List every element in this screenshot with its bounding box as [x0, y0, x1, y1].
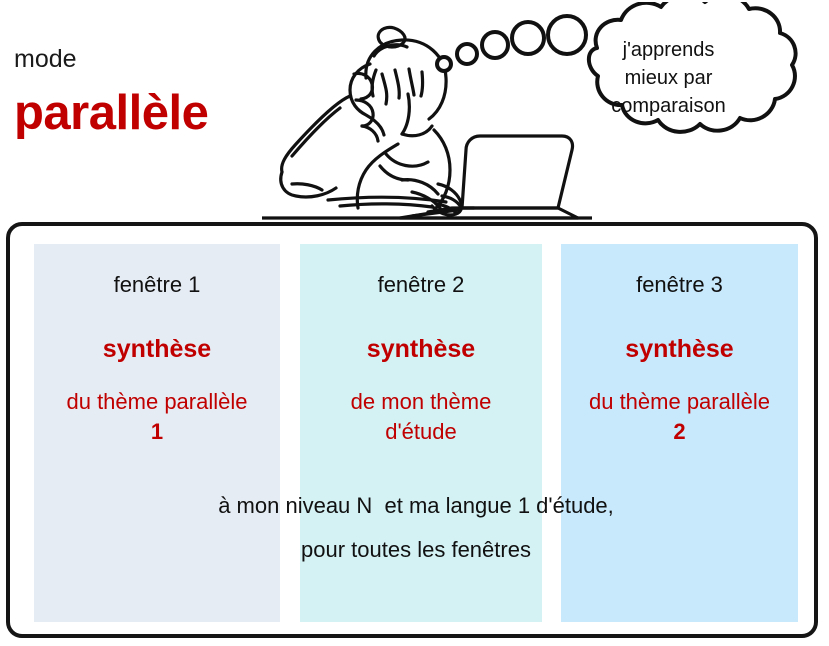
mode-label: mode — [14, 45, 77, 73]
window-description-1: du thème parallèle 1 — [34, 387, 280, 447]
window-description-line1-1: du thème parallèle — [34, 387, 280, 417]
columns-container: fenêtre 1 synthèse du thème parallèle 1 … — [10, 226, 822, 642]
window-label-2: fenêtre 2 — [300, 272, 542, 298]
window-column-3[interactable]: fenêtre 3 synthèse du thème parallèle 2 — [561, 244, 798, 622]
window-description-line1-2: de mon thème — [300, 387, 542, 417]
window-column-2[interactable]: fenêtre 2 synthèse de mon thème d'étude — [300, 244, 542, 622]
window-description-3: du thème parallèle 2 — [561, 387, 798, 447]
synthese-label-1: synthèse — [34, 334, 280, 364]
mode-title: parallèle — [14, 85, 208, 141]
window-description-line2-3: 2 — [561, 417, 798, 447]
bubble-line-2: mieux par — [566, 64, 771, 92]
window-description-line2-2: d'étude — [300, 417, 542, 447]
window-description-2: de mon thème d'étude — [300, 387, 542, 447]
window-description-line1-3: du thème parallèle — [561, 387, 798, 417]
window-label-1: fenêtre 1 — [34, 272, 280, 298]
window-column-1[interactable]: fenêtre 1 synthèse du thème parallèle 1 — [34, 244, 280, 622]
synthese-label-3: synthèse — [561, 334, 798, 364]
bubble-line-1: j'apprends — [566, 36, 771, 64]
bubble-line-3: comparaison — [566, 92, 771, 120]
window-description-line2-1: 1 — [34, 417, 280, 447]
windows-panel: fenêtre 1 synthèse du thème parallèle 1 … — [6, 222, 818, 638]
synthese-label-2: synthèse — [300, 334, 542, 364]
window-label-3: fenêtre 3 — [561, 272, 798, 298]
thought-bubble-text: j'apprends mieux par comparaison — [566, 36, 771, 120]
header: mode parallèle — [0, 0, 829, 222]
